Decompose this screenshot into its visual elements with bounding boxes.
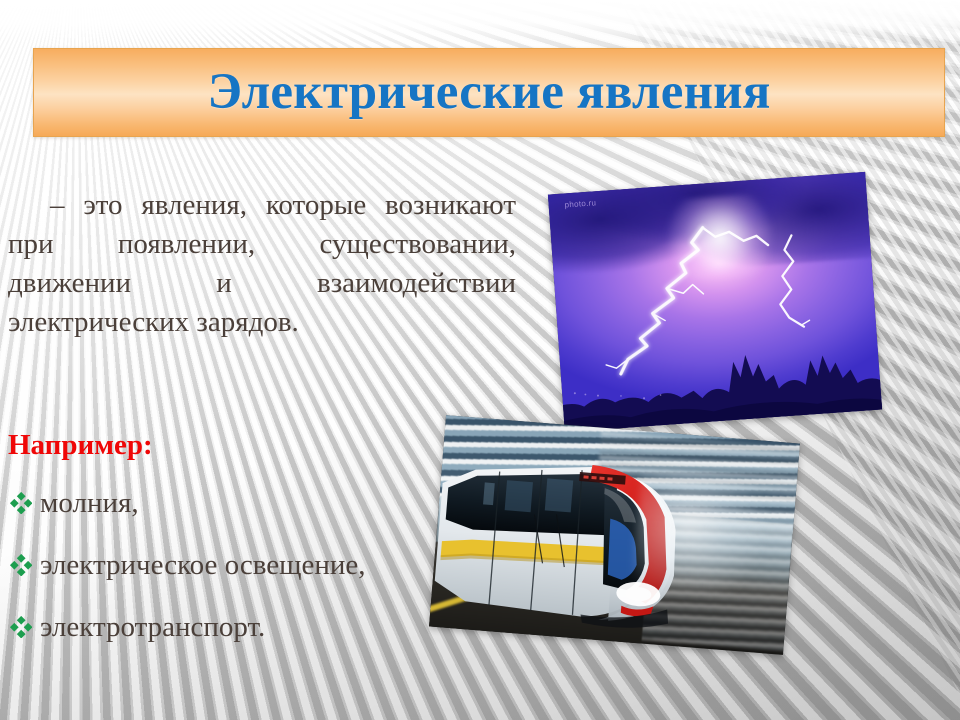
title-banner: Электрические явления [33, 48, 945, 137]
diamond-bullet-icon [10, 616, 32, 638]
page-title: Электрические явления [34, 62, 944, 120]
list-item-label: электротранспорт. [40, 610, 265, 644]
example-heading: Например: [8, 431, 153, 460]
definition-paragraph: – это явления, которые возникают при поя… [8, 186, 516, 341]
train-photo [429, 415, 800, 655]
list-item-label: электрическое освещение, [40, 548, 366, 582]
train-speed-glow [632, 469, 769, 598]
diamond-bullet-icon [10, 492, 32, 514]
diamond-bullet-icon [10, 554, 32, 576]
slide: Электрические явления – это явления, кот… [0, 0, 960, 720]
list-item-label: молния, [40, 486, 139, 520]
lightning-photo: photo.ru [548, 172, 882, 432]
background-top-fade [0, 0, 960, 42]
